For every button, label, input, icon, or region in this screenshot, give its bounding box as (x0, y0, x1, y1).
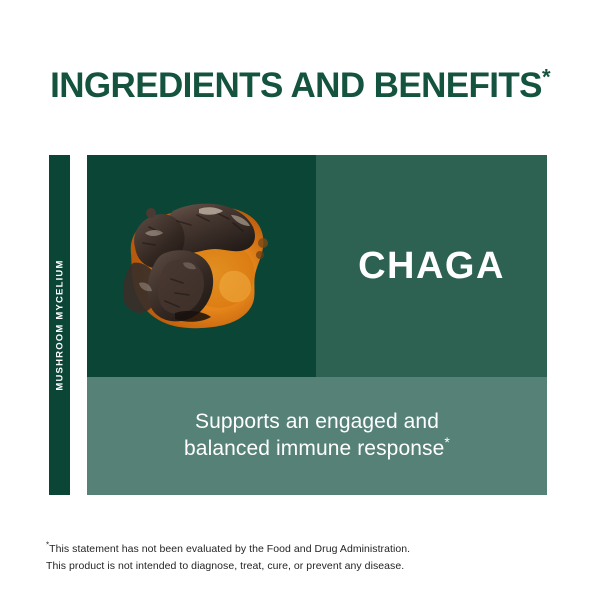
disclaimer: *This statement has not been evaluated b… (46, 541, 546, 575)
ingredient-name: CHAGA (358, 247, 505, 285)
benefit-line-1: Supports an engaged and (195, 410, 439, 433)
benefit-line-2: balanced immune response (184, 437, 444, 460)
category-bar: MUSHROOM MYCELIUM (49, 155, 70, 495)
page-title-text: INGREDIENTS AND BENEFITS (50, 66, 542, 105)
benefit-band: Supports an engaged andbalanced immune r… (87, 377, 547, 495)
chaga-mushroom-photo (113, 191, 289, 347)
ingredient-card: CHAGA Supports an engaged andbalanced im… (87, 155, 547, 495)
ingredient-benefits-page: INGREDIENTS AND BENEFITS* MUSHROOM MYCEL… (0, 0, 600, 600)
benefit-text: Supports an engaged andbalanced immune r… (170, 409, 464, 463)
page-title: INGREDIENTS AND BENEFITS* (0, 68, 600, 103)
ingredient-name-panel: CHAGA (316, 155, 547, 377)
benefit-asterisk: * (444, 434, 450, 450)
card-top-row: CHAGA (87, 155, 547, 377)
category-bar-label: MUSHROOM MYCELIUM (54, 259, 65, 390)
disclaimer-line-1-text: This statement has not been evaluated by… (49, 543, 410, 555)
disclaimer-line-2: This product is not intended to diagnose… (46, 558, 546, 575)
page-title-asterisk: * (542, 64, 550, 89)
ingredient-image-panel (87, 155, 316, 377)
disclaimer-line-1: *This statement has not been evaluated b… (46, 541, 546, 558)
